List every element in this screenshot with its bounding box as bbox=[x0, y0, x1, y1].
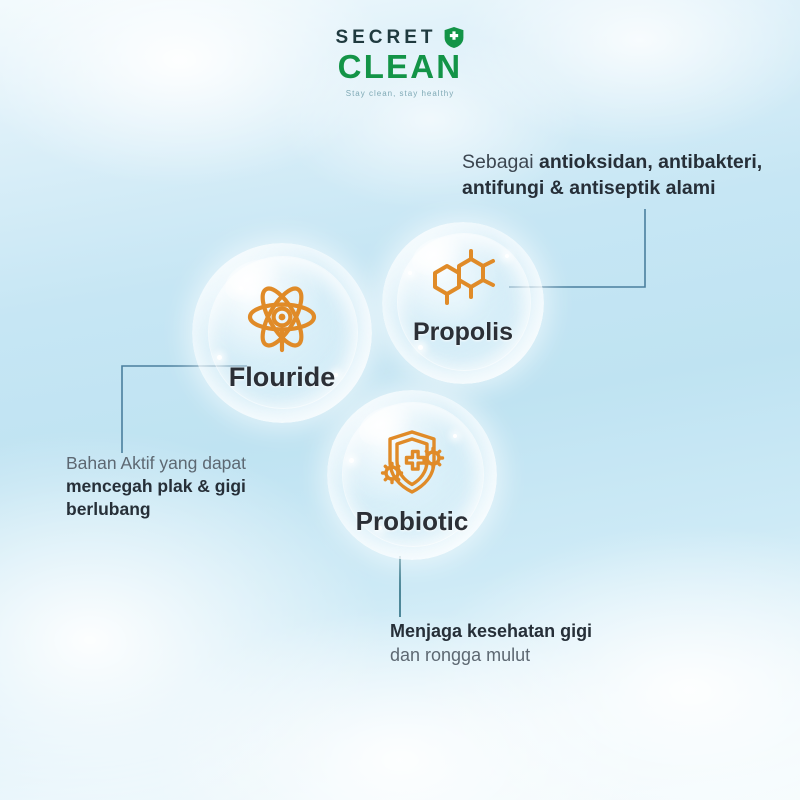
bubble-propolis[interactable]: Propolis bbox=[382, 222, 544, 384]
atom-icon bbox=[245, 280, 319, 354]
bubble-label-propolis: Propolis bbox=[413, 320, 513, 345]
bubble-label-probiotic: Probiotic bbox=[356, 508, 469, 534]
infographic-canvas: SECRET CLEAN Stay clean, stay healthy bbox=[0, 0, 800, 800]
callout-propolis-line2: antifungi & antiseptik alami bbox=[462, 176, 782, 202]
callout-flouride-bold2: berlubang bbox=[66, 499, 151, 519]
callout-flouride-line2: mencegah plak & gigi bbox=[66, 475, 316, 498]
logo-tagline: Stay clean, stay healthy bbox=[0, 89, 800, 98]
callout-probiotic-bold1: Menjaga kesehatan gigi bbox=[390, 621, 592, 641]
shield-microbe-icon bbox=[377, 428, 447, 498]
callout-flouride-line3: berlubang bbox=[66, 498, 316, 521]
callout-flouride-bold1: mencegah plak & gigi bbox=[66, 476, 246, 496]
callout-flouride: Bahan Aktif yang dapat mencegah plak & g… bbox=[66, 452, 316, 521]
bubble-sparkle bbox=[349, 458, 354, 463]
connector-probiotic bbox=[393, 556, 407, 618]
brand-logo: SECRET CLEAN Stay clean, stay healthy bbox=[0, 26, 800, 98]
callout-probiotic-line2: dan rongga mulut bbox=[390, 644, 680, 668]
bubble-flouride[interactable]: Flouride bbox=[192, 243, 372, 423]
callout-propolis-bold1: antioksidan, antibakteri, bbox=[539, 151, 762, 173]
callout-propolis-regular: Sebagai bbox=[462, 151, 539, 173]
callout-propolis-bold2: antifungi & antiseptik alami bbox=[462, 177, 716, 199]
bubble-sparkle bbox=[217, 355, 222, 360]
bubble-sparkle bbox=[408, 271, 412, 275]
callout-propolis-line1: Sebagai antioksidan, antibakteri, bbox=[462, 150, 782, 176]
callout-probiotic-line1: Menjaga kesehatan gigi bbox=[390, 620, 680, 644]
callout-propolis: Sebagai antioksidan, antibakteri, antifu… bbox=[462, 150, 782, 201]
callout-flouride-line1: Bahan Aktif yang dapat bbox=[66, 452, 316, 475]
molecule-hexagon-icon bbox=[427, 249, 499, 311]
bubble-label-flouride: Flouride bbox=[229, 364, 336, 391]
logo-secret-text: SECRET bbox=[335, 28, 436, 47]
logo-top-row: SECRET bbox=[0, 26, 800, 49]
bubble-probiotic[interactable]: Probiotic bbox=[327, 390, 497, 560]
logo-clean-text: CLEAN bbox=[0, 50, 800, 83]
callout-probiotic: Menjaga kesehatan gigi dan rongga mulut bbox=[390, 620, 680, 668]
shield-cross-icon bbox=[443, 26, 465, 49]
